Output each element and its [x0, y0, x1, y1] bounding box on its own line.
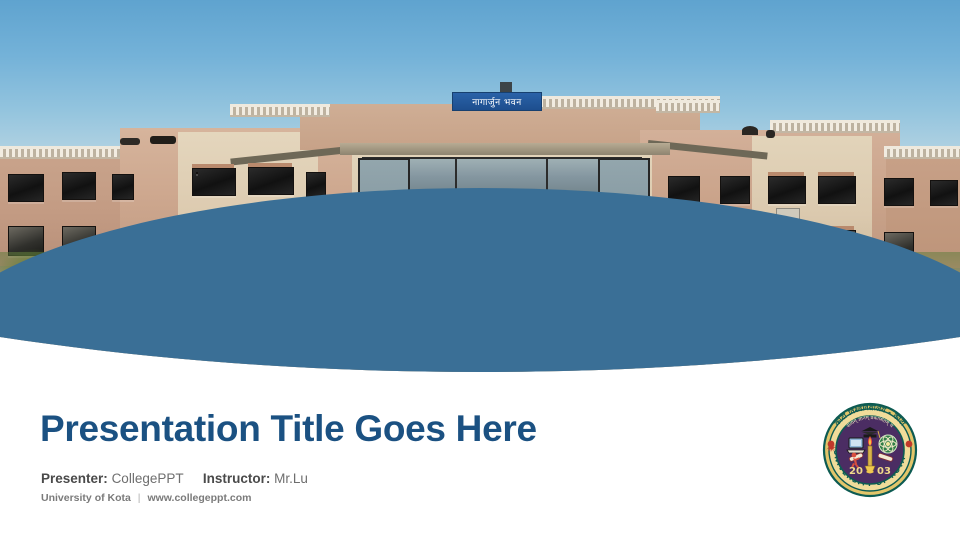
university-of-kota-seal: कोटा विश्वविद्यालय - कोटा UNIVERSITY OF …	[818, 398, 922, 502]
presenter-value: CollegePPT	[112, 471, 184, 486]
window	[720, 176, 750, 204]
rooftop-vent	[742, 126, 758, 135]
footer-institution: University of Kota	[41, 492, 131, 504]
footer-website: www.collegeppt.com	[147, 492, 251, 504]
campus-photo: नागार्जुन भवन	[0, 0, 960, 372]
seal-year-left: 20	[849, 466, 863, 477]
parapet-railing	[0, 146, 120, 159]
rooftop-vent	[766, 130, 775, 138]
building-name-sign: नागार्जुन भवन	[452, 92, 542, 111]
window	[930, 180, 958, 206]
window	[8, 174, 44, 202]
campus-photo-banner: नागार्जुन भवन	[0, 0, 960, 372]
building-name-sign-text: नागार्जुन भवन	[472, 95, 522, 108]
parapet-railing	[884, 146, 960, 159]
window	[196, 172, 198, 174]
instructor-label: Instructor:	[203, 471, 271, 486]
parapet-railing	[656, 100, 720, 113]
window	[112, 174, 134, 200]
window	[248, 167, 294, 195]
page-title: Presentation Title Goes Here	[40, 408, 537, 450]
parapet-railing	[230, 104, 330, 117]
seal-year-right: 03	[877, 466, 891, 477]
instructor-value: Mr.Lu	[274, 471, 308, 486]
computer-icon	[847, 438, 865, 453]
footer-line: University of Kota | www.collegeppt.com	[41, 492, 251, 504]
seal-star-ornament	[906, 441, 913, 448]
rooftop-vent	[150, 136, 176, 144]
window	[768, 176, 806, 204]
presenter-label: Presenter:	[41, 471, 108, 486]
window	[818, 176, 856, 204]
window	[884, 178, 914, 206]
window	[62, 172, 96, 200]
footer-separator: |	[134, 492, 145, 504]
portico-canopy	[340, 143, 670, 155]
rooftop-vent	[120, 138, 140, 145]
seal-graphic: कोटा विश्वविद्यालय - कोटा UNIVERSITY OF …	[818, 398, 922, 502]
atom-icon	[879, 435, 897, 453]
seal-star-ornament	[828, 441, 835, 448]
parapet-railing	[770, 120, 900, 133]
presentation-title-slide: नागार्जुन भवन	[0, 0, 960, 540]
byline: Presenter: CollegePPT Instructor: Mr.Lu	[41, 471, 308, 486]
window	[192, 168, 236, 196]
